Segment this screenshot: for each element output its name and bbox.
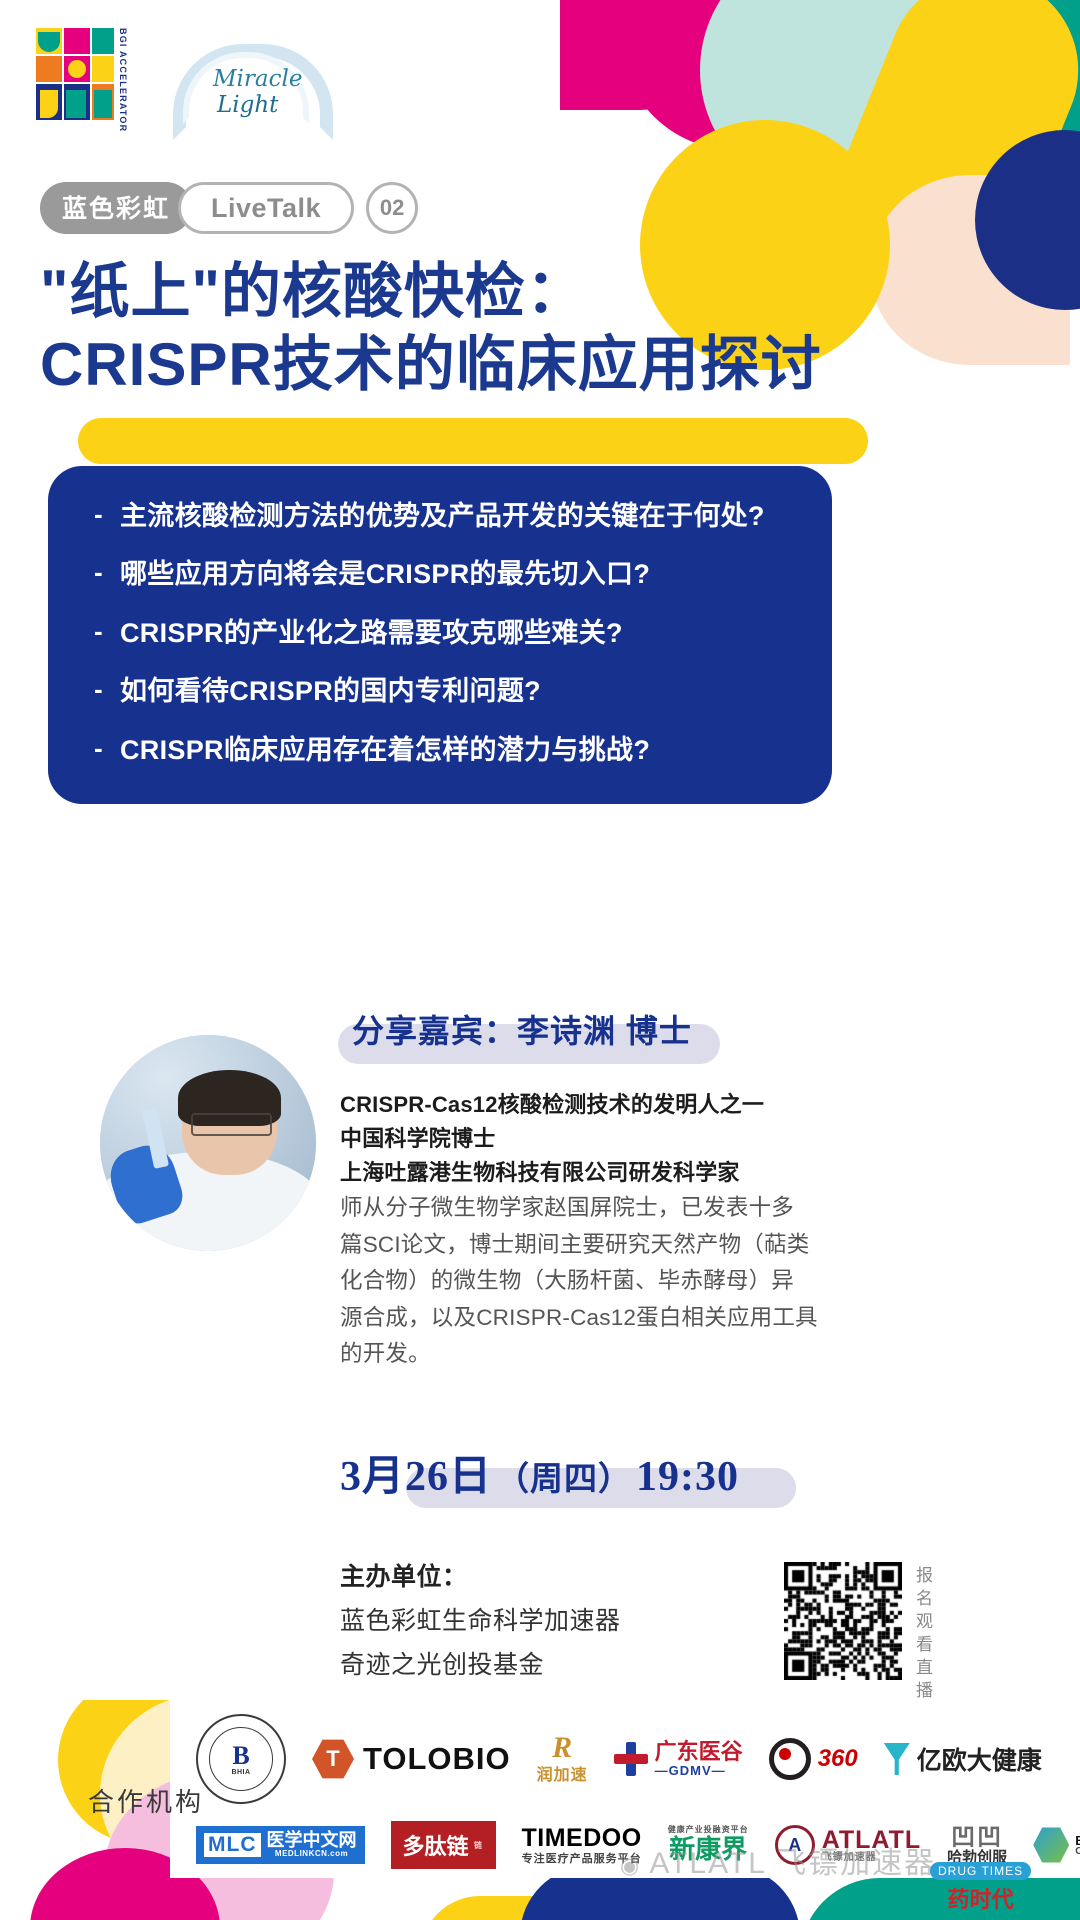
bio-text-line: 的开发。 (340, 1336, 880, 1372)
partner-logo-360: 360 (769, 1738, 858, 1780)
question-bullet: - (78, 734, 120, 764)
event-date: 3月26日 (340, 1442, 492, 1503)
bigchance-text-block: BIG CHANCE (1075, 1834, 1080, 1857)
organizer-line: 蓝色彩虹生命科学加速器 (340, 1600, 621, 1644)
partner-logo-habo: 凹凹 哈勃创服 (947, 1825, 1007, 1866)
partner-logo-sub: —GDMV— (655, 1763, 743, 1778)
partner-logo-sub: CHANCE (1075, 1847, 1080, 1857)
organizer-block: 主办单位： 蓝色彩虹生命科学加速器 奇迹之光创投基金 (340, 1556, 621, 1687)
partner-logo-text: BIG (1075, 1834, 1080, 1847)
question-text: CRISPR的产业化之路需要攻克哪些难关? (120, 617, 623, 649)
bio-bold-line: 中国科学院博士 (340, 1122, 880, 1156)
habo-mark-icon: 凹凹 (951, 1825, 1003, 1850)
series-tag: LiveTalk (178, 182, 354, 234)
partner-logo-text: 广东医谷 (655, 1741, 743, 1763)
question-text: 哪些应用方向将会是CRISPR的最先切入口? (120, 558, 650, 590)
bigchance-hex-icon (1033, 1826, 1069, 1864)
episode-badge: 02 (366, 182, 418, 234)
watermark-text: ◉ ATLATL 飞镖加速器 (620, 1838, 936, 1882)
organizer-line: 奇迹之光创投基金 (340, 1644, 621, 1688)
event-datetime: 3月26日 （周四） 19:30 (340, 1442, 739, 1503)
partner-logo-mark: MLC (204, 1833, 261, 1857)
title-highlight-bar (78, 418, 868, 464)
bhia-monogram-icon: B (232, 1743, 249, 1769)
partner-logo-text: 医学中文网 (267, 1831, 357, 1850)
partner-logo-sub: MEDLINKCN.com (275, 1850, 348, 1858)
partner-logo-row-1: B BHIA T TOLOBIO R 润加速 广东医谷 —GDMV— (196, 1716, 1066, 1802)
speaker-bio: CRISPR-Cas12核酸检测技术的发明人之一 中国科学院博士 上海吐露港生物… (340, 1088, 880, 1372)
duotailian-side-mark-icon: 链 (473, 1841, 484, 1849)
miracle-logo-line1: Miracle (213, 66, 302, 92)
partner-logo-mlc: MLC 医学中文网 MEDLINKCN.com (196, 1826, 365, 1863)
runjiasu-mark-icon: R (552, 1734, 572, 1761)
partner-logo-bhia: B BHIA (196, 1714, 286, 1804)
partners-label: 合作机构 (88, 1782, 204, 1819)
deco-mint-circle (700, 0, 960, 200)
question-item: - CRISPR的产业化之路需要攻克哪些难关? (78, 617, 802, 649)
event-weekday: （周四） (496, 1452, 632, 1500)
question-text: CRISPR临床应用存在着怎样的潜力与挑战? (120, 734, 650, 766)
bio-text-line: 化合物）的微生物（大肠杆菌、毕赤酵母）异 (340, 1263, 880, 1299)
series-tag-row: 蓝色彩虹 LiveTalk 02 (40, 182, 418, 234)
partner-logo-runjiasu: R 润加速 (537, 1734, 588, 1785)
bio-text-line: 篇SCI论文，博士期间主要研究天然产物（萜类 (340, 1227, 880, 1263)
bio-text-line: 源合成，以及CRISPR-Cas12蛋白相关应用工具 (340, 1300, 880, 1336)
speaker-avatar (100, 1035, 316, 1251)
partner-logo-yiou: 亿欧大健康 (884, 1741, 1042, 1777)
watermark-badge: DRUG TIMES 药时代 (930, 1862, 1031, 1914)
target-dot-icon (769, 1738, 811, 1780)
partner-logo-text: 润加速 (537, 1761, 588, 1785)
question-bullet: - (78, 500, 120, 530)
bhia-inner-ring: B BHIA (209, 1727, 273, 1791)
question-bullet: - (78, 675, 120, 705)
yiou-mark-icon (884, 1743, 910, 1775)
title-line-1: "纸上"的核酸快检： (40, 255, 1040, 328)
partner-logo-gdmv: 广东医谷 —GDMV— (614, 1741, 743, 1778)
wechat-icon: ◉ (620, 1853, 649, 1878)
deco-teal-block (980, 0, 1080, 180)
deco-magenta-circle (620, 0, 850, 150)
partner-logo-text: BHIA (231, 1769, 250, 1776)
question-bullet: - (78, 617, 120, 647)
organizer-label: 主办单位： (340, 1556, 621, 1600)
miracle-light-logo: Miracle Light (165, 30, 315, 130)
poster-title: "纸上"的核酸快检： CRISPR技术的临床应用探讨 (40, 255, 1040, 401)
poster-root: BGI ACCELERATOR Miracle Light 蓝色彩虹 LiveT… (0, 0, 1080, 1920)
bio-text-line: 师从分子微生物学家赵国屏院士，已发表十多 (340, 1190, 880, 1226)
watermark-badge-pill: DRUG TIMES (930, 1862, 1031, 1880)
medical-cross-icon (614, 1742, 648, 1776)
xgi-logo-label: BGI ACCELERATOR (118, 28, 127, 132)
brand-tag: 蓝色彩虹 (40, 182, 192, 234)
miracle-logo-line2: Light (217, 92, 278, 118)
deco-teal-circle (960, 0, 1080, 290)
question-item: - 哪些应用方向将会是CRISPR的最先切入口? (78, 558, 802, 590)
question-bullet: - (78, 558, 120, 588)
partner-logo-text: 多肽链 (403, 1829, 469, 1861)
tolobio-hex-icon: T (312, 1738, 354, 1780)
mlc-text-block: 医学中文网 MEDLINKCN.com (267, 1831, 357, 1858)
question-box: - 主流核酸检测方法的优势及产品开发的关键在于何处? - 哪些应用方向将会是CR… (48, 466, 832, 804)
partner-logo-duotailian: 多肽链 链 (391, 1821, 496, 1869)
event-time: 19:30 (636, 1453, 739, 1501)
qr-canvas[interactable] (784, 1562, 902, 1680)
partner-logo-text: TOLOBIO (363, 1741, 511, 1777)
question-item: - CRISPR临床应用存在着怎样的潜力与挑战? (78, 734, 802, 766)
partner-logo-tolobio: T TOLOBIO (312, 1738, 511, 1780)
title-line-2: CRISPR技术的临床应用探讨 (40, 328, 1040, 401)
header-logos: BGI ACCELERATOR Miracle Light (36, 28, 315, 132)
xgi-mark-icon (36, 28, 114, 120)
question-item: - 主流核酸检测方法的优势及产品开发的关键在于何处? (78, 500, 802, 532)
qr-code[interactable] (784, 1562, 902, 1680)
watermark-label: ATLATL 飞镖加速器 (649, 1847, 936, 1880)
xgi-logo: BGI ACCELERATOR (36, 28, 127, 132)
speaker-heading: 分享嘉宾：李诗渊 博士 (352, 1006, 692, 1052)
bio-bold-line: CRISPR-Cas12核酸检测技术的发明人之一 (340, 1088, 880, 1122)
question-item: - 如何看待CRISPR的国内专利问题? (78, 675, 802, 707)
deco-magenta-shape (560, 0, 730, 110)
watermark-badge-cn: 药时代 (930, 1882, 1031, 1914)
qr-caption: 报名观看直播 (910, 1566, 935, 1704)
bio-bold-line: 上海吐露港生物科技有限公司研发科学家 (340, 1156, 880, 1190)
question-text: 主流核酸检测方法的优势及产品开发的关键在于何处? (120, 500, 765, 532)
partner-logo-bigchance: BIG CHANCE (1033, 1826, 1080, 1864)
question-text: 如何看待CRISPR的国内专利问题? (120, 675, 541, 707)
avatar-glasses-icon (191, 1113, 273, 1136)
partner-logo-text: 360 (818, 1745, 858, 1773)
partner-logo-text: 亿欧大健康 (917, 1741, 1042, 1777)
